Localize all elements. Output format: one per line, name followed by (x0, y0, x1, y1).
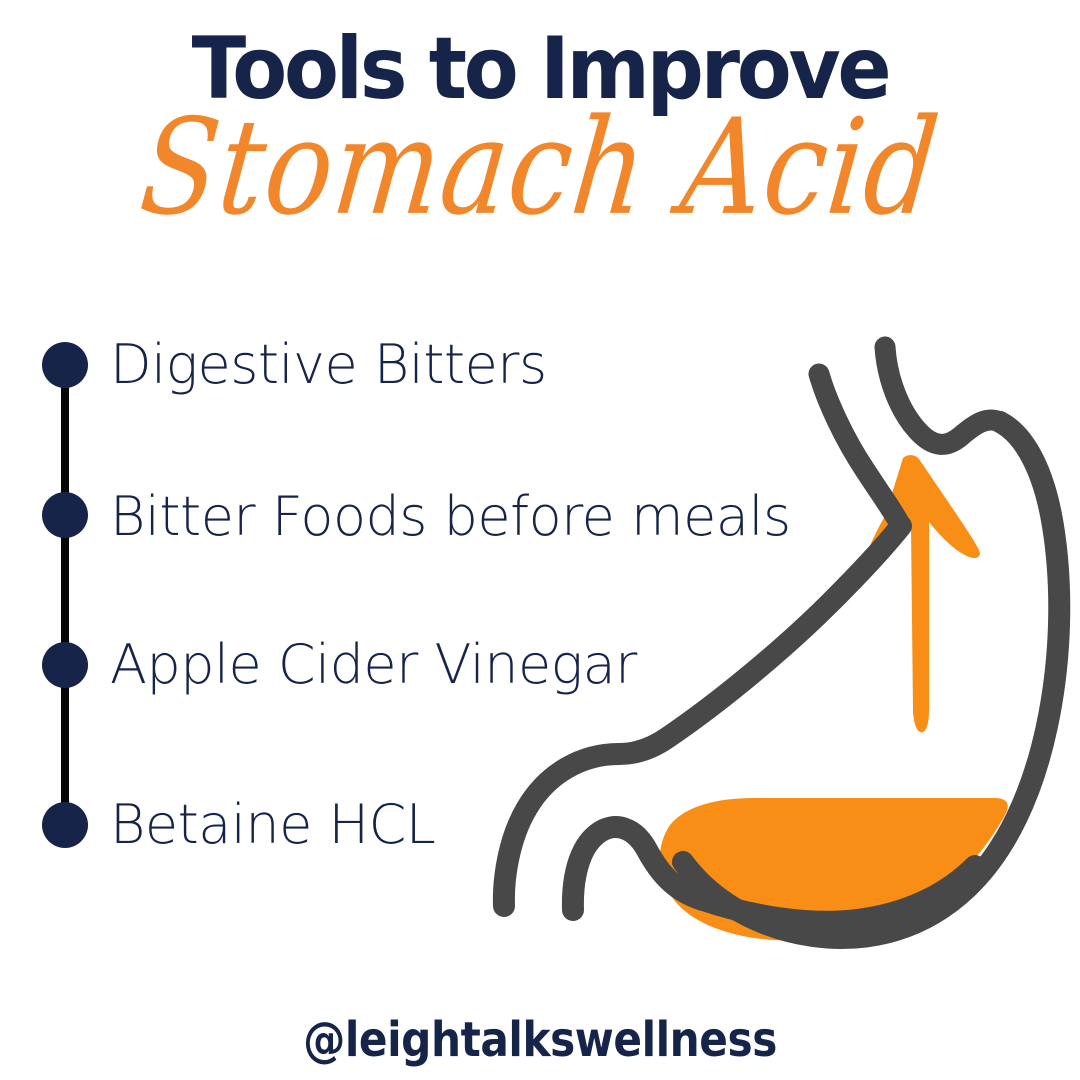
bullet-dot-1 (42, 342, 88, 388)
stomach-inner-wall (619, 526, 901, 754)
timeline-connector-line (61, 358, 69, 828)
list-item-label-4: Betaine HCL (110, 798, 435, 852)
infographic-canvas: Tools to Improve Stomach Acid Digestive … (0, 0, 1080, 1080)
bullet-dot-4 (42, 802, 88, 848)
stomach-diagram (455, 330, 1080, 970)
esophagus-right-wall (885, 347, 1000, 444)
stomach-diagram-svg (455, 330, 1080, 970)
social-handle: @leightalkswellness (65, 1012, 1015, 1068)
page-title-script: Stomach Acid (0, 102, 1080, 234)
bullet-dot-3 (42, 642, 88, 688)
bullet-dot-2 (42, 492, 88, 538)
